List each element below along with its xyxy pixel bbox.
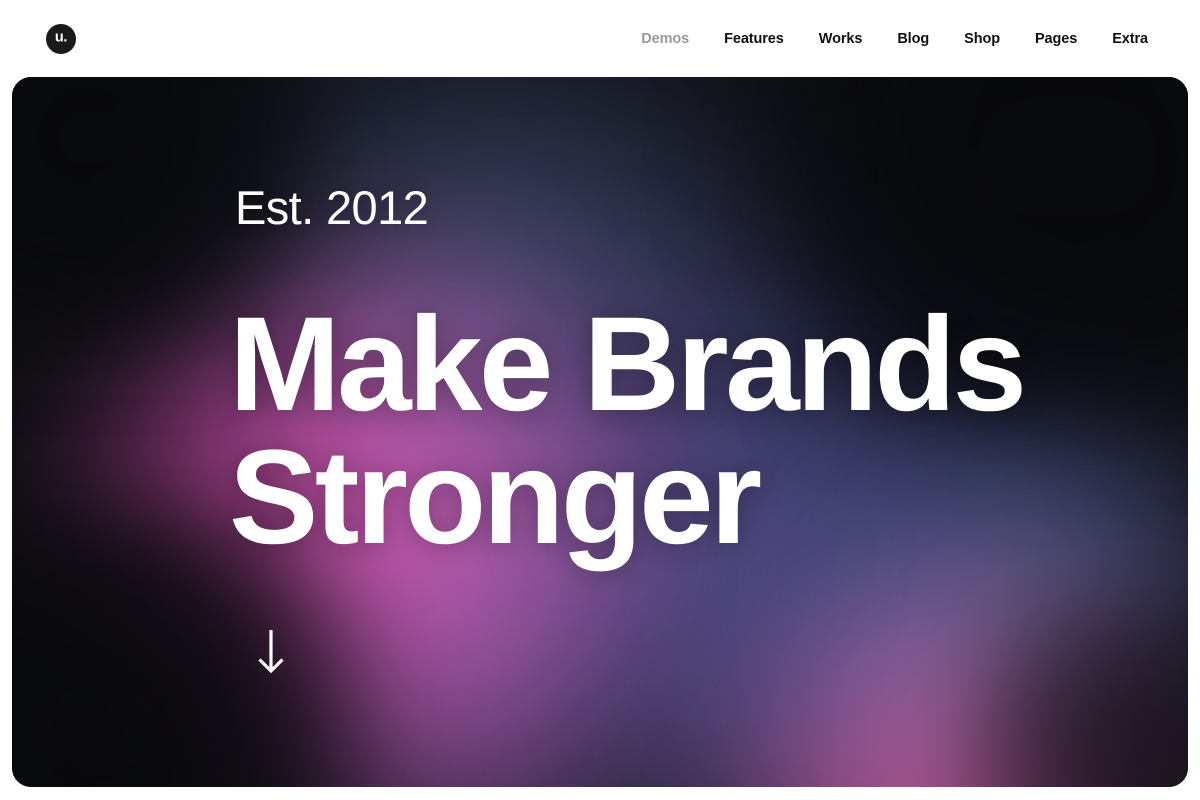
nav-item-pages[interactable]: Pages xyxy=(1035,31,1077,47)
site-header: u. Demos Features Works Blog Shop Pages … xyxy=(0,0,1200,77)
main-navigation: Demos Features Works Blog Shop Pages Ext… xyxy=(641,31,1148,47)
hero-title: Make Brands Stronger xyxy=(229,299,1089,564)
landing-page: u. Demos Features Works Blog Shop Pages … xyxy=(0,0,1200,800)
hero-eyebrow: Est. 2012 xyxy=(235,184,428,231)
hero-title-line-2: Stronger xyxy=(229,432,1089,565)
hero-section: Est. 2012 Make Brands Stronger xyxy=(12,77,1188,787)
hero-content: Est. 2012 Make Brands Stronger xyxy=(229,77,1129,787)
nav-item-extra[interactable]: Extra xyxy=(1112,31,1148,47)
hero-title-line-1: Make Brands xyxy=(229,299,1089,432)
nav-item-shop[interactable]: Shop xyxy=(964,31,1000,47)
nav-item-features[interactable]: Features xyxy=(724,31,784,47)
nav-item-demos[interactable]: Demos xyxy=(641,31,689,47)
nav-item-works[interactable]: Works xyxy=(819,31,863,47)
nav-item-blog[interactable]: Blog xyxy=(897,31,929,47)
brand-logo-label: u. xyxy=(55,31,67,46)
brand-logo-icon[interactable]: u. xyxy=(46,24,76,54)
arrow-down-icon[interactable] xyxy=(251,628,291,676)
